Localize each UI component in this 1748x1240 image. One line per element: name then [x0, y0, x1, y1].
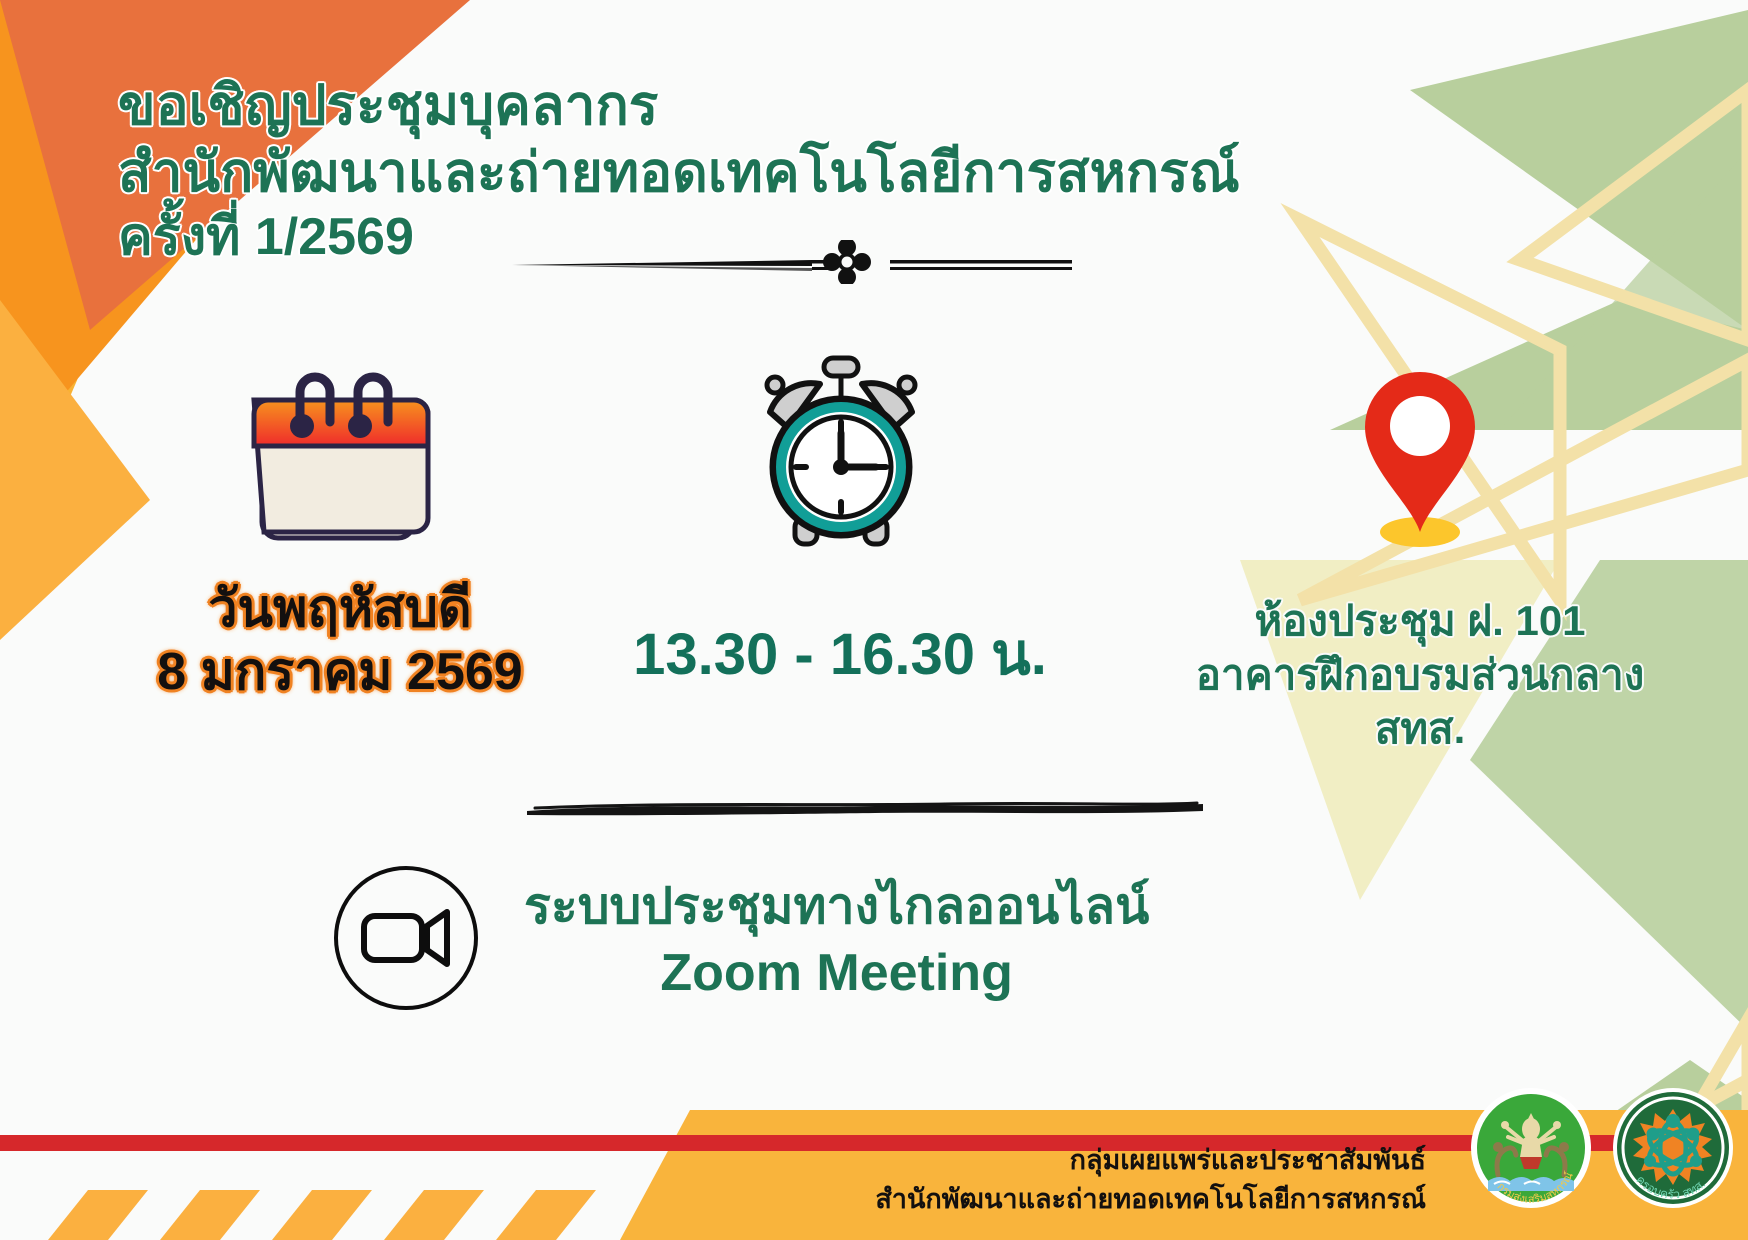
footer-line-2: สำนักพัฒนาและถ่ายทอดเทคโนโลยีการสหกรณ์	[875, 1180, 1426, 1218]
title-line-1: ขอเชิญประชุมบุคลากร	[118, 72, 1298, 139]
place-line-2: อาคารฝึกอบรมส่วนกลาง	[1120, 648, 1720, 702]
location-pin-icon	[1120, 350, 1720, 550]
place-line-3: สทส.	[1120, 702, 1720, 756]
poster-canvas: ขอเชิญประชุมบุคลากร สำนักพัฒนาและถ่ายทอด…	[0, 0, 1748, 1240]
info-columns: วันพฤหัสบดี 8 มกราคม 2569	[0, 350, 1748, 770]
date-line-1: วันพฤหัสบดี	[90, 578, 590, 641]
footer-credit: กลุ่มเผยแพร่และประชาสัมพันธ์ สำนักพัฒนาแ…	[875, 1141, 1426, 1218]
footer-logos: กรมส่งเสริมสหกรณ์	[1468, 1085, 1736, 1216]
info-column-place: ห้องประชุม ฝ. 101 อาคารฝึกอบรมส่วนกลาง ส…	[1120, 350, 1720, 755]
online-meeting-row: ระบบประชุมทางไกลออนไลน์ Zoom Meeting	[330, 862, 1149, 1019]
brush-divider	[525, 795, 1205, 819]
date-line-2: 8 มกราคม 2569	[90, 641, 590, 704]
alarm-clock-icon	[580, 350, 1100, 550]
online-line-1: ระบบประชุมทางไกลออนไลน์	[524, 878, 1149, 934]
online-line-2: Zoom Meeting	[524, 939, 1149, 1008]
info-column-date: วันพฤหัสบดี 8 มกราคม 2569	[90, 350, 590, 705]
shape-cream-outline-tri-2	[1520, 90, 1748, 340]
time-value: 13.30 - 16.30 น.	[580, 620, 1100, 690]
info-column-time: 13.30 - 16.30 น.	[580, 350, 1100, 690]
calendar-icon	[90, 350, 590, 550]
title-line-2: สำนักพัฒนาและถ่ายทอดเทคโนโลยีการสหกรณ์	[118, 139, 1298, 206]
place-line-1: ห้องประชุม ฝ. 101	[1120, 594, 1720, 648]
family-stts-logo: ครอบครัว สทส.	[1610, 1085, 1736, 1216]
shape-diagonal-stripes	[48, 1190, 596, 1240]
cpd-emblem-logo: กรมส่งเสริมสหกรณ์	[1468, 1085, 1594, 1216]
footer-line-1: กลุ่มเผยแพร่และประชาสัมพันธ์	[875, 1141, 1426, 1179]
ornamental-divider-icon	[512, 240, 1072, 284]
shape-sage-tri-1	[1410, 10, 1748, 330]
video-camera-icon	[330, 862, 482, 1019]
